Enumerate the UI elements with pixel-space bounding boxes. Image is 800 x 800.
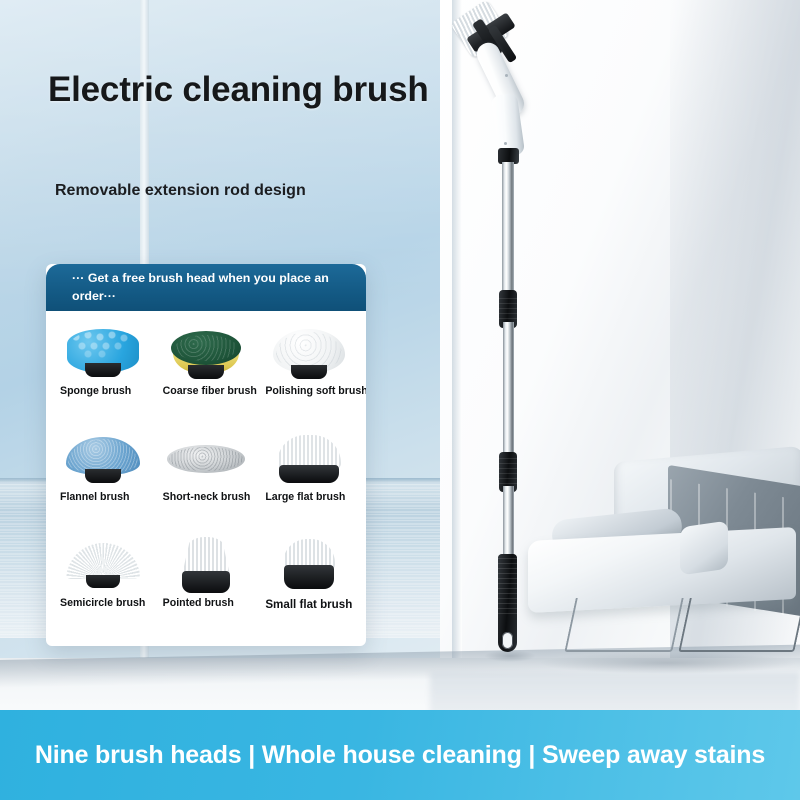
brush-head-label: Small flat brush (265, 597, 366, 612)
brush-head-label: Polishing soft brush (265, 385, 366, 399)
brush-head-label: Semicircle brush (60, 597, 164, 611)
pointed-brush-icon (155, 533, 258, 595)
brush-head-label: Flannel brush (60, 491, 164, 505)
sofa-arm-rest (680, 521, 728, 576)
extension-rod-lower (503, 322, 514, 458)
extension-rod-upper (502, 162, 514, 310)
large-flat-brush-icon (257, 427, 360, 489)
electric-brush-product (432, 2, 592, 682)
banner-text: Nine brush heads | Whole house cleaning … (35, 741, 765, 770)
polishing-soft-brush-icon (257, 321, 360, 383)
brush-head-item-coarse-fiber[interactable]: Coarse fiber brush (155, 321, 258, 427)
page-subtitle: Removable extension rod design (55, 182, 306, 200)
hanging-hole (502, 632, 513, 649)
brush-heads-promo-card: ··· Get a free brush head when you place… (46, 264, 366, 646)
brush-head-label: Short-neck brush (163, 491, 267, 505)
product-promo-image: Electric cleaning brush Removable extens… (0, 0, 800, 800)
brush-head-label: Coarse fiber brush (163, 385, 267, 399)
brush-head-item-sponge[interactable]: Sponge brush (52, 321, 155, 427)
small-flat-brush-icon (257, 533, 360, 595)
brush-head-item-pointed[interactable]: Pointed brush (155, 533, 258, 639)
brush-head-item-large-flat[interactable]: Large flat brush (257, 427, 360, 533)
sofa-legs (564, 598, 800, 660)
brush-head-item-polishing-soft[interactable]: Polishing soft brush (257, 321, 360, 427)
semicircle-brush-icon (52, 533, 155, 595)
extension-rod-bottom (503, 486, 514, 560)
sponge-brush-icon (52, 321, 155, 383)
coarse-fiber-brush-icon (155, 321, 258, 383)
brush-head-label: Large flat brush (265, 491, 366, 505)
brush-heads-grid: Sponge brush Coarse fiber brush Polishin… (46, 311, 366, 645)
brush-head-item-small-flat[interactable]: Small flat brush (257, 533, 360, 639)
page-title: Electric cleaning brush (48, 70, 429, 110)
bottom-feature-banner: Nine brush heads | Whole house cleaning … (0, 710, 800, 800)
promo-header-text: ··· Get a free brush head when you place… (72, 270, 358, 306)
brush-head-item-flannel[interactable]: Flannel brush (52, 427, 155, 533)
brush-screw-upper (505, 74, 508, 77)
brush-head-item-semicircle[interactable]: Semicircle brush (52, 533, 155, 639)
flannel-brush-icon (52, 427, 155, 489)
short-neck-brush-icon (155, 427, 258, 489)
product-shadow (484, 650, 536, 662)
brush-head-item-short-neck[interactable]: Short-neck brush (155, 427, 258, 533)
promo-card-header: ··· Get a free brush head when you place… (46, 264, 366, 311)
sofa-leg-back (678, 598, 800, 652)
brush-head-label: Pointed brush (163, 597, 267, 611)
brush-screw-lower (504, 142, 507, 145)
brush-head-label: Sponge brush (60, 385, 164, 399)
